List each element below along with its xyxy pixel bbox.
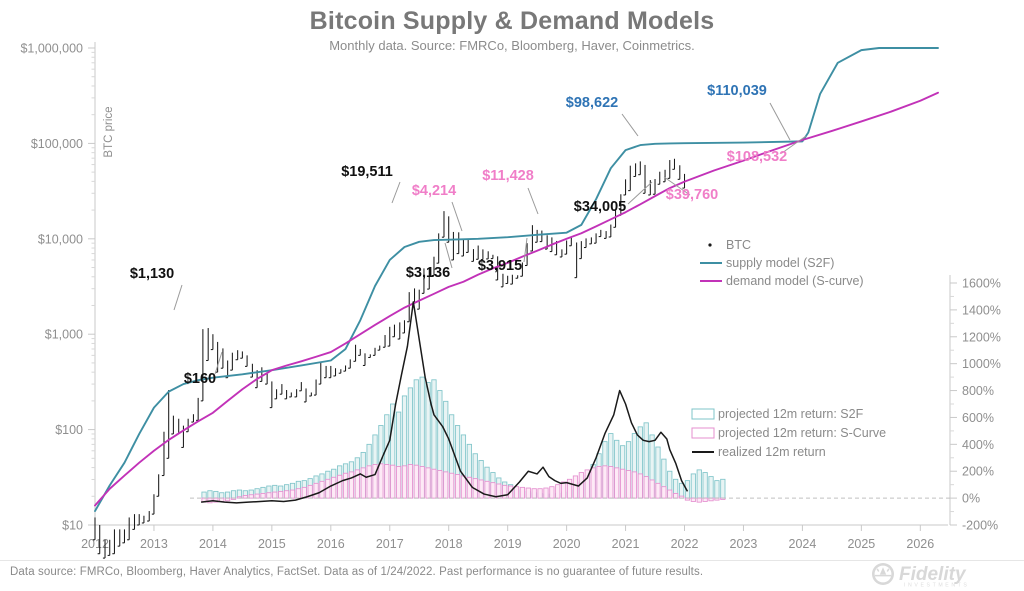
bar-projected-scurve [391, 465, 395, 498]
bar-projected-scurve [668, 490, 672, 498]
x-tick-label: 2021 [612, 537, 640, 551]
legend-label: realized 12m return [718, 445, 826, 459]
annotation-34005: $34,005 [574, 199, 626, 215]
x-tick-label: 2024 [789, 537, 817, 551]
bar-projected-scurve [261, 493, 265, 498]
x-tick-label: 2017 [376, 537, 404, 551]
annotation-39760: $39,760 [666, 187, 718, 203]
legend-marker-dot [708, 243, 711, 246]
x-tick-label: 2016 [317, 537, 345, 551]
y2-tick-label: 1400% [962, 303, 1001, 317]
bar-projected-scurve [514, 487, 518, 498]
x-tick-label: 2020 [553, 537, 581, 551]
x-tick-label: 2018 [435, 537, 463, 551]
y2-tick-label: 0% [962, 492, 980, 506]
y-tick-label: $100 [55, 423, 83, 437]
bar-projected-scurve [290, 490, 294, 498]
bar-projected-scurve [444, 472, 448, 498]
bar-projected-scurve [408, 465, 412, 499]
bar-projected-scurve [544, 488, 548, 498]
bar-projected-scurve [556, 485, 560, 498]
bar-projected-scurve [314, 483, 318, 498]
bar-projected-scurve [438, 471, 442, 499]
bar-projected-scurve [691, 498, 695, 501]
bar-projected-scurve [426, 468, 430, 498]
bar-projected-scurve [632, 472, 636, 498]
bar-projected-s2f [225, 492, 229, 498]
bar-projected-scurve [526, 488, 530, 498]
bar-projected-scurve [626, 471, 630, 499]
fidelity-logo: Fidelity INVESTMENTS [866, 562, 1016, 588]
annotation-3915: $3,915 [478, 258, 522, 274]
bar-projected-scurve [597, 467, 601, 499]
annotation-leader [452, 202, 462, 231]
x-tick-label: 2025 [847, 537, 875, 551]
bar-projected-scurve [402, 466, 406, 498]
y-tick-label: $10,000 [38, 232, 83, 246]
bar-projected-scurve [662, 487, 666, 498]
y2-tick-label: -200% [962, 519, 998, 533]
bar-projected-scurve [703, 498, 707, 501]
bar-projected-scurve [461, 476, 465, 498]
bar-projected-scurve [337, 475, 341, 498]
bar-projected-scurve [697, 498, 701, 502]
bar-projected-scurve [349, 472, 353, 498]
annotation-1130: $1,130 [130, 266, 174, 282]
bar-projected-scurve [396, 467, 400, 499]
bar-projected-scurve [520, 487, 524, 498]
bar-projected-scurve [479, 480, 483, 498]
bar-projected-scurve [267, 493, 271, 498]
annotation-98622: $98,622 [566, 95, 618, 111]
bar-projected-s2f [220, 493, 224, 498]
bar-projected-scurve [273, 492, 277, 498]
annotation-leader [622, 114, 638, 136]
bar-projected-s2f [709, 477, 713, 499]
bar-projected-scurve [650, 480, 654, 498]
x-tick-label: 2014 [199, 537, 227, 551]
legend-label: projected 12m return: S-Curve [718, 426, 886, 440]
x-tick-label: 2022 [671, 537, 699, 551]
y2-tick-label: 1200% [962, 330, 1001, 344]
legend-marker-box [692, 409, 714, 419]
annotation-19511: $19,511 [341, 164, 393, 180]
y-tick-label: $1,000,000 [20, 42, 83, 56]
bar-projected-scurve [255, 494, 259, 498]
chart-page: Bitcoin Supply & Demand Models Monthly d… [0, 0, 1024, 591]
y-tick-label: $100,000 [31, 137, 83, 151]
bar-projected-scurve [550, 487, 554, 498]
x-tick-label: 2019 [494, 537, 522, 551]
annotation-leader [528, 188, 538, 214]
bar-projected-scurve [638, 474, 642, 498]
bar-projected-scurve [449, 473, 453, 498]
bar-projected-scurve [591, 468, 595, 498]
y2-tick-label: 600% [962, 411, 994, 425]
bar-projected-scurve [432, 469, 436, 498]
x-tick-label: 2015 [258, 537, 286, 551]
bar-projected-scurve [532, 489, 536, 498]
return-legend: projected 12m return: S2Fprojected 12m r… [692, 407, 886, 459]
footer-divider [0, 560, 1024, 561]
x-tick-label: 2023 [730, 537, 758, 551]
annotation-leader [524, 238, 527, 262]
bar-projected-scurve [332, 477, 336, 498]
bar-projected-s2f [703, 473, 707, 499]
bar-projected-scurve [279, 491, 283, 498]
bar-projected-scurve [361, 468, 365, 498]
bar-projected-s2f [691, 474, 695, 498]
bar-projected-s2f [715, 481, 719, 498]
y2-tick-label: 1000% [962, 357, 1001, 371]
bar-projected-s2f [697, 470, 701, 498]
annotation-leader [174, 285, 182, 310]
legend-label: projected 12m return: S2F [718, 407, 864, 421]
y2-tick-label: 1600% [962, 277, 1001, 291]
y-axis-title: BTC price [103, 106, 115, 157]
bar-projected-scurve [603, 466, 607, 498]
y2-tick-label: 400% [962, 438, 994, 452]
bar-projected-scurve [674, 493, 678, 498]
legend-marker-box [692, 428, 714, 438]
bar-projected-s2f [208, 491, 212, 498]
annotation-110039: $110,039 [707, 83, 767, 99]
demand-model-line [95, 93, 938, 506]
bar-projected-scurve [620, 469, 624, 498]
bar-projected-scurve [561, 482, 565, 498]
bar-projected-s2f [231, 491, 235, 498]
bar-projected-s2f [202, 492, 206, 498]
x-tick-label: 2026 [906, 537, 934, 551]
bar-projected-scurve [538, 489, 542, 498]
legend-label: supply model (S2F) [726, 256, 834, 270]
bar-projected-s2f [214, 491, 218, 498]
x-tick-label: 2013 [140, 537, 168, 551]
axes-group: $10$100$1,000$10,000$100,000$1,000,000BT… [20, 42, 1001, 552]
y2-tick-label: 200% [962, 465, 994, 479]
bar-projected-scurve [284, 491, 288, 498]
annotation-4214: $4,214 [412, 183, 456, 199]
annotation-3136: $3,136 [406, 265, 450, 281]
y-tick-label: $10 [62, 519, 83, 533]
bar-projected-scurve [615, 468, 619, 498]
bar-projected-scurve [385, 465, 389, 499]
bar-projected-scurve [343, 473, 347, 498]
annotation-108532: $108,532 [727, 149, 787, 165]
bar-projected-scurve [379, 464, 383, 498]
bar-projected-scurve [609, 467, 613, 499]
bar-projected-scurve [567, 479, 571, 498]
legend-label: BTC [726, 238, 751, 252]
footer-source: Data source: FMRCo, Bloomberg, Haver Ana… [10, 566, 703, 578]
projected-return-bars [202, 377, 725, 503]
annotation-leader [392, 182, 400, 203]
bitcoin-supply-demand-chart: $10$100$1,000$10,000$100,000$1,000,000BT… [0, 0, 1024, 560]
bar-projected-scurve [420, 467, 424, 499]
bar-projected-scurve [644, 477, 648, 499]
bar-projected-scurve [455, 475, 459, 499]
bar-projected-scurve [296, 489, 300, 498]
bar-projected-scurve [414, 465, 418, 498]
y2-tick-label: 800% [962, 384, 994, 398]
bar-projected-scurve [249, 495, 253, 498]
bar-projected-scurve [367, 466, 371, 498]
annotation-160: $160 [184, 371, 216, 387]
bar-projected-s2f [721, 479, 725, 498]
annotation-leader [770, 103, 790, 140]
bar-projected-scurve [573, 476, 577, 498]
bar-projected-scurve [656, 483, 660, 498]
price-legend: BTCsupply model (S2F)demand model (S-cur… [700, 238, 864, 288]
fidelity-tagline: INVESTMENTS [904, 583, 970, 589]
annotation-11428: $11,428 [482, 168, 534, 184]
y-tick-label: $1,000 [45, 328, 83, 342]
legend-label: demand model (S-curve) [726, 274, 864, 288]
